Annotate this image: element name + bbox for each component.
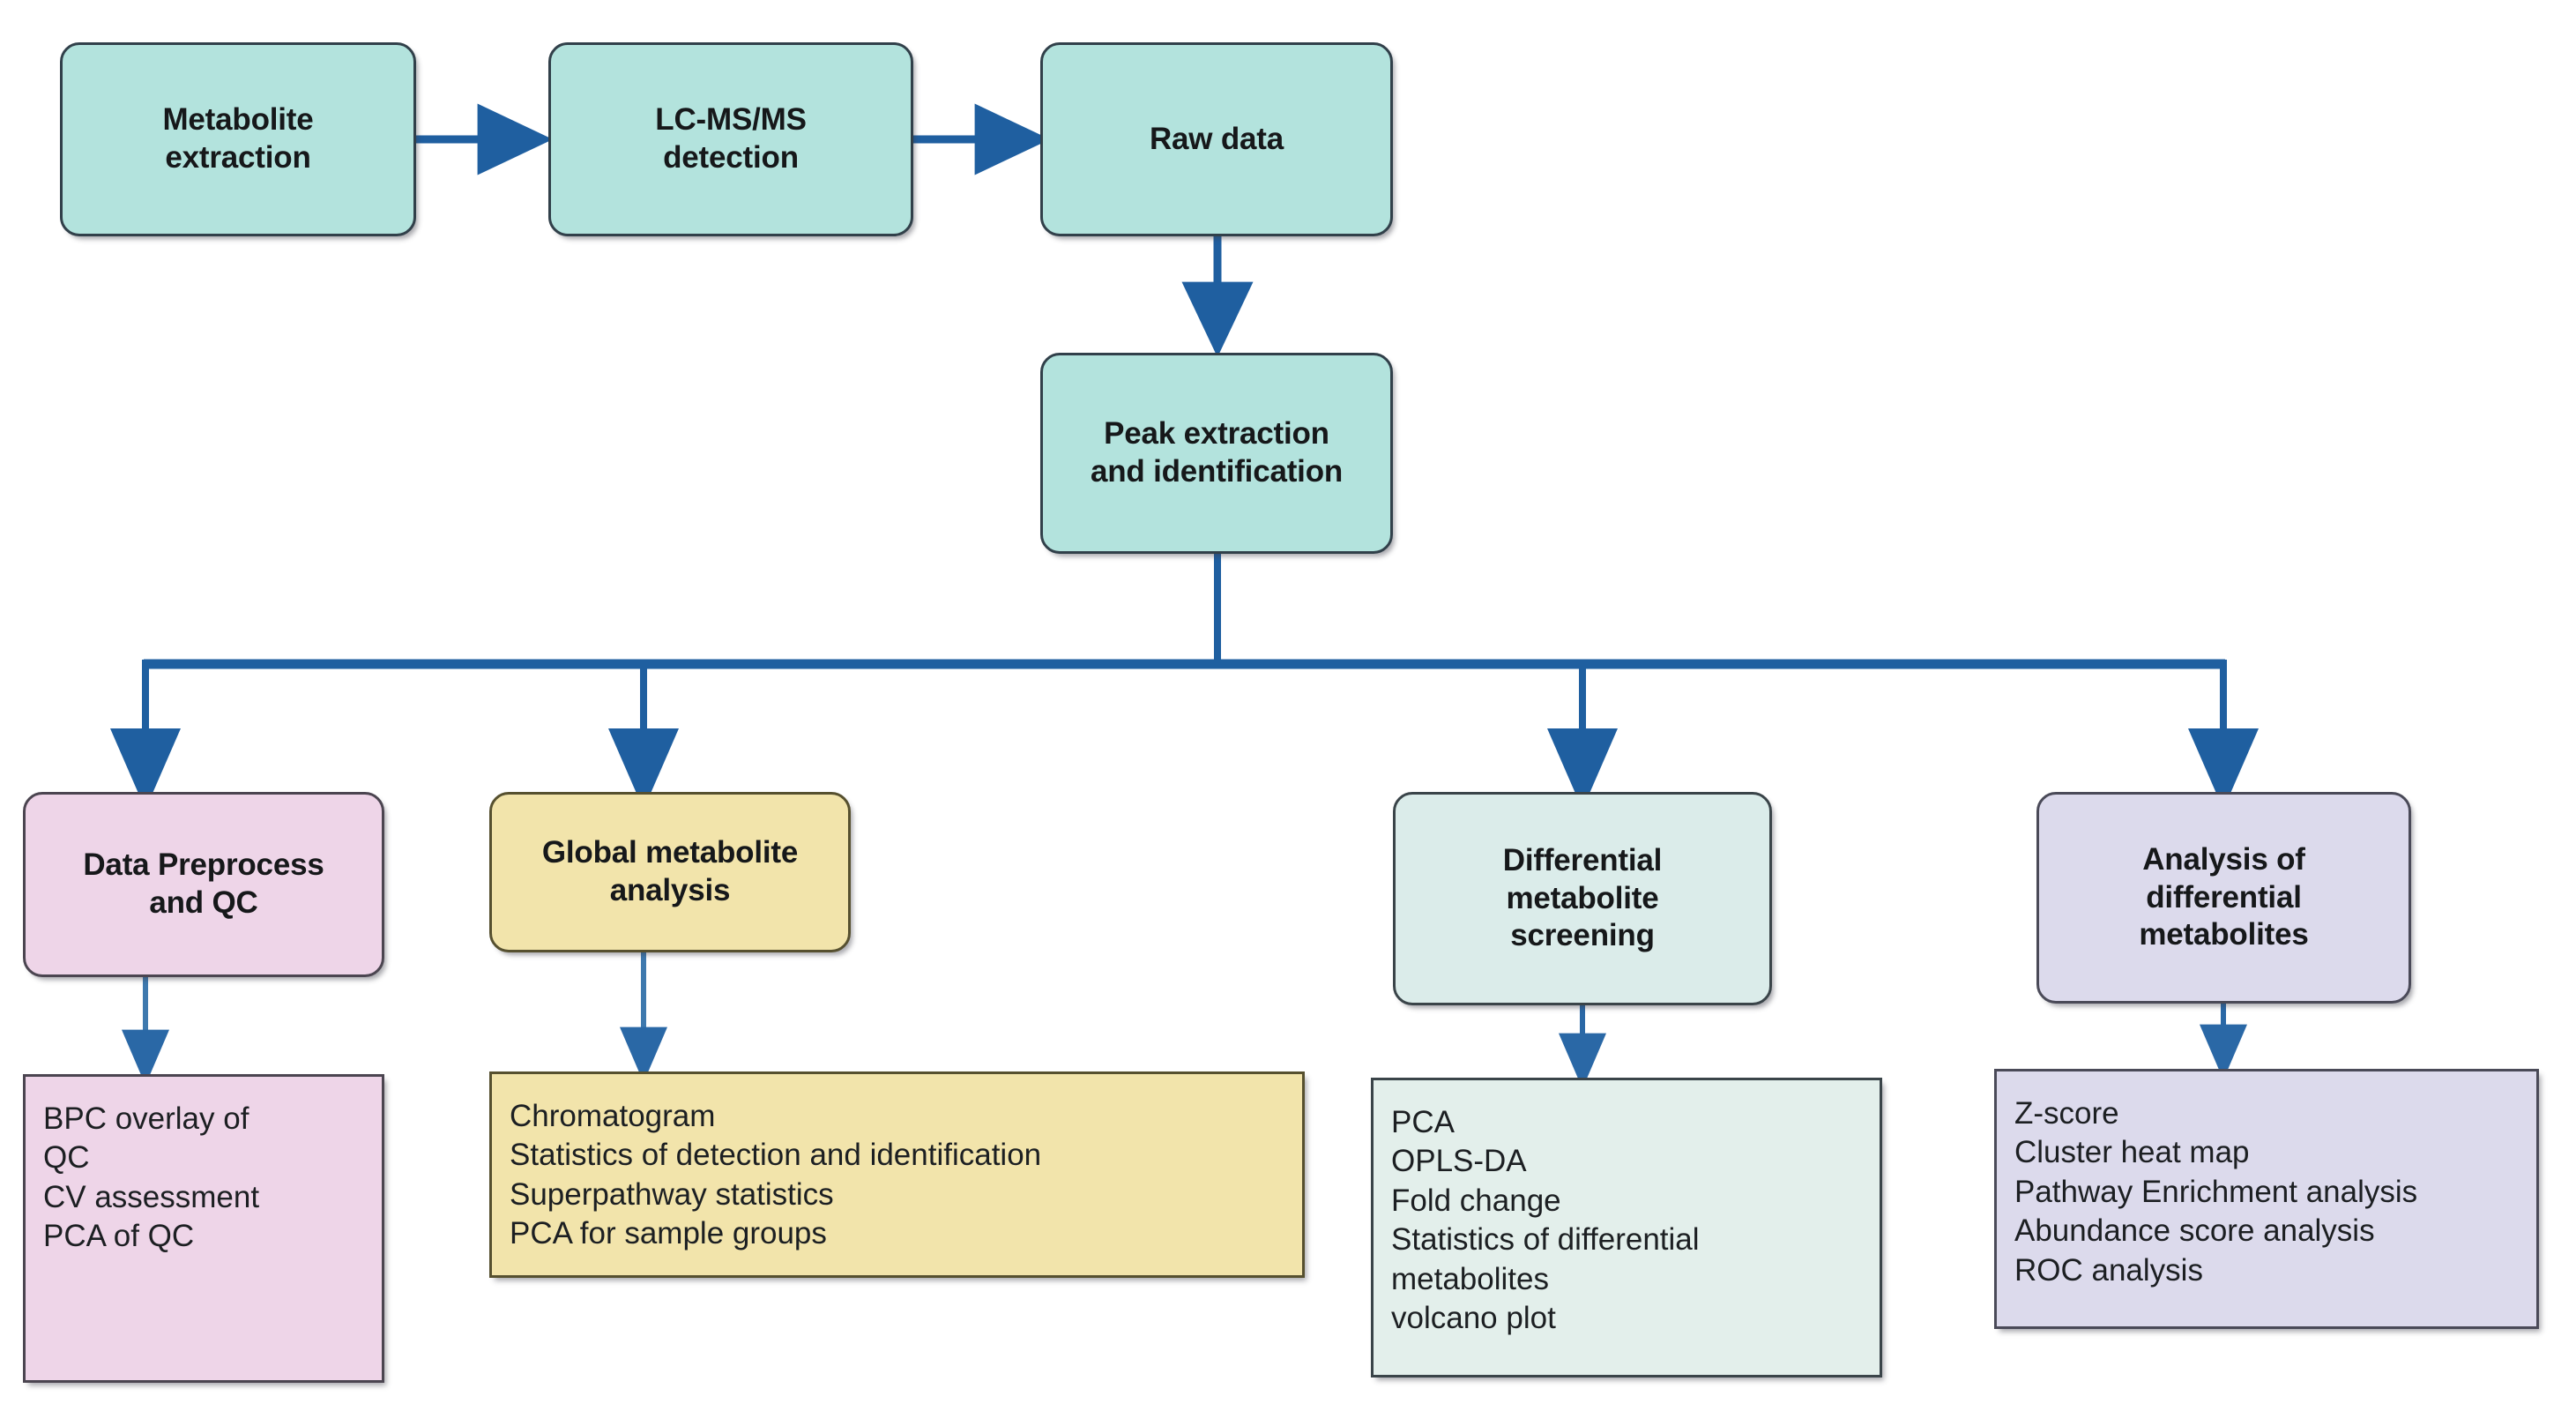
- node-analysis-of-differential-metabolites[interactable]: Analysis of differential metabolites: [2036, 792, 2411, 1004]
- node-raw-data[interactable]: Raw data: [1040, 42, 1393, 236]
- list-item: Superpathway statistics: [510, 1176, 1286, 1214]
- node-differential-metabolite-screening[interactable]: Differential metabolite screening: [1393, 792, 1772, 1005]
- node-metabolite-extraction[interactable]: Metabolite extraction: [60, 42, 416, 236]
- list-item: PCA for sample groups: [510, 1214, 1286, 1253]
- node-label: Metabolite extraction: [162, 101, 313, 176]
- list-items: BPC overlay of QC CV assessment PCA of Q…: [43, 1100, 366, 1257]
- list-item: volcano plot: [1391, 1299, 1864, 1338]
- node-lcmsms-detection[interactable]: LC-MS/MS detection: [548, 42, 913, 236]
- node-data-preprocess-qc[interactable]: Data Preprocess and QC: [23, 792, 384, 977]
- node-label: LC-MS/MS detection: [655, 101, 806, 176]
- list-item: Cluster heat map: [2014, 1133, 2520, 1172]
- list-item: Statistics of differential metabolites: [1391, 1221, 1864, 1299]
- list-data-preprocess-qc: BPC overlay of QC CV assessment PCA of Q…: [23, 1074, 384, 1383]
- node-label: Peak extraction and identification: [1091, 415, 1343, 490]
- list-analysis-of-differential-metabolites: Z-score Cluster heat map Pathway Enrichm…: [1994, 1069, 2539, 1329]
- list-item: Statistics of detection and identificati…: [510, 1136, 1286, 1175]
- node-global-metabolite-analysis[interactable]: Global metabolite analysis: [489, 792, 851, 952]
- node-label: Global metabolite analysis: [530, 834, 810, 909]
- node-peak-extraction[interactable]: Peak extraction and identification: [1040, 353, 1393, 554]
- list-differential-metabolite-screening: PCA OPLS-DA Fold change Statistics of di…: [1371, 1078, 1882, 1377]
- list-item: CV assessment: [43, 1178, 366, 1217]
- list-item: PCA: [1391, 1103, 1864, 1142]
- list-item: Z-score: [2014, 1094, 2520, 1133]
- list-item: ROC analysis: [2014, 1251, 2520, 1290]
- node-label: Data Preprocess and QC: [83, 847, 324, 922]
- list-item: Pathway Enrichment analysis: [2014, 1173, 2520, 1212]
- list-global-metabolite-analysis: Chromatogram Statistics of detection and…: [489, 1071, 1305, 1278]
- node-label: Analysis of differential metabolites: [2139, 841, 2308, 954]
- flowchart-canvas: Metabolite extraction LC-MS/MS detection…: [0, 0, 2576, 1426]
- list-items: PCA OPLS-DA Fold change Statistics of di…: [1391, 1103, 1864, 1339]
- node-label: Raw data: [1150, 121, 1284, 159]
- list-item: BPC overlay of QC: [43, 1100, 366, 1178]
- list-item: PCA of QC: [43, 1217, 366, 1256]
- list-item: Chromatogram: [510, 1097, 1286, 1136]
- node-label: Differential metabolite screening: [1503, 842, 1662, 955]
- list-item: OPLS-DA: [1391, 1142, 1864, 1181]
- list-item: Abundance score analysis: [2014, 1212, 2520, 1251]
- list-items: Chromatogram Statistics of detection and…: [510, 1097, 1286, 1254]
- list-item: Fold change: [1391, 1182, 1864, 1221]
- list-items: Z-score Cluster heat map Pathway Enrichm…: [2014, 1094, 2520, 1290]
